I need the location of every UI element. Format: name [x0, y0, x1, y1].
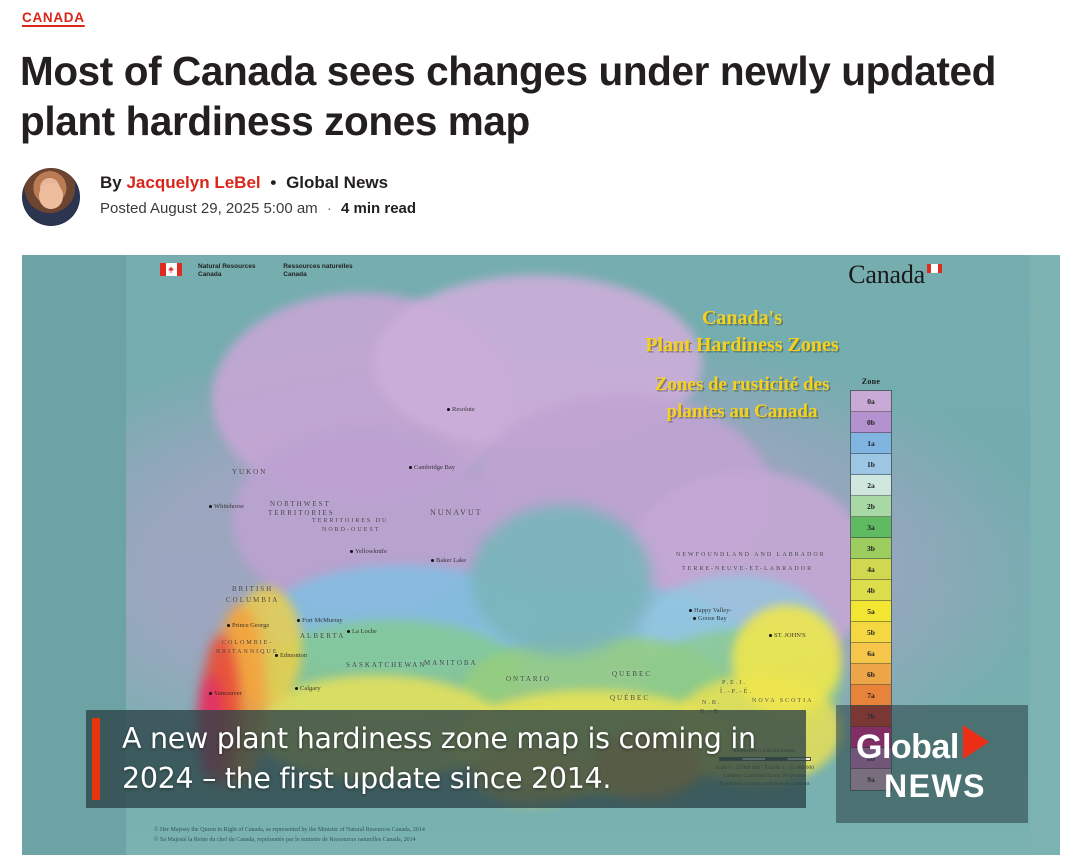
legend-swatch-7a: 7a [851, 685, 891, 706]
natural-resources-canada-signature: Natural ResourcesCanada Ressources natur… [160, 263, 353, 279]
legend-swatch-5a: 5a [851, 601, 891, 622]
byline-meta: Posted August 29, 2025 5:00 am · 4 min r… [100, 198, 416, 220]
legend-swatch-4a: 4a [851, 559, 891, 580]
map-city-dot [689, 609, 692, 612]
map-city-dot [209, 505, 212, 508]
map-city-dot [297, 619, 300, 622]
article-hero-figure: YUKONNORTHWESTTERRITORIESTERRITOIRES DUN… [22, 255, 1060, 855]
map-region-label: YUKON [232, 468, 267, 476]
map-city-dot [693, 617, 696, 620]
legend-swatch-3b: 3b [851, 538, 891, 559]
map-city-label: Calgary [300, 685, 321, 692]
map-region-label: Î.-P.-É. [720, 689, 753, 695]
map-title-en-line1: Canada's [582, 305, 902, 332]
map-city-label: Yellowknife [355, 548, 387, 555]
map-city-dot [447, 408, 450, 411]
article-page: CANADA Most of Canada sees changes under… [0, 0, 1080, 860]
map-region-label: P.E.I. [722, 680, 747, 686]
category-link-canada[interactable]: CANADA [22, 10, 85, 25]
meta-dot: · [327, 200, 332, 217]
global-news-arrow-icon [963, 725, 989, 759]
map-city-dot [769, 634, 772, 637]
caption-accent-bar [92, 718, 100, 800]
map-city-dot [347, 630, 350, 633]
map-region-label: MANITOBA [424, 659, 478, 667]
canada-wordmark: Canada [848, 260, 942, 290]
byline-primary: By Jacquelyn LeBel • Global News [100, 172, 416, 194]
legend-title: Zone [850, 377, 892, 386]
map-right-band [1030, 255, 1060, 855]
agency-name-en: Natural ResourcesCanada [198, 263, 255, 279]
byline: By Jacquelyn LeBel • Global News Posted … [22, 168, 416, 226]
canada-wordmark-flag-icon [927, 264, 942, 273]
map-region-label: NORD-OUEST [322, 527, 380, 533]
map-region-label: BRITISH [232, 585, 273, 593]
map-city-label: ST. JOHN'S [774, 632, 806, 639]
map-city-dot [209, 692, 212, 695]
agency-name-fr: Ressources naturellesCanada [283, 263, 352, 279]
map-region-label: NUNAVUT [430, 508, 483, 517]
map-city-label: Goose Bay [698, 615, 727, 622]
map-city-label: Cambridge Bay [414, 464, 455, 471]
copyright-en: © Her Majesty the Queen in Right of Cana… [154, 825, 425, 835]
canada-wordmark-text: Canada [848, 260, 925, 289]
caption-text: A new plant hardiness zone map is coming… [122, 719, 806, 799]
map-city-label: Fort McMurray [302, 617, 343, 624]
map-city-label: Edmonton [280, 652, 307, 659]
map-region-label: ONTARIO [506, 675, 551, 683]
map-city-label: Happy Valley- [694, 607, 732, 614]
map-region-label: NORTHWEST [270, 500, 331, 508]
map-region-label: ALBERTA [300, 632, 345, 640]
author-avatar [22, 168, 80, 226]
map-region-label: TERRITORIES [268, 509, 335, 517]
map-region-label: QUEBEC [612, 670, 652, 678]
global-news-sub-wordmark: NEWS [884, 769, 986, 803]
map-city-dot [431, 559, 434, 562]
map-region-label: COLOMBIE- [222, 640, 273, 646]
canadian-flag-icon [160, 263, 182, 276]
legend-swatch-6b: 6b [851, 664, 891, 685]
legend-swatch-2b: 2b [851, 496, 891, 517]
legend-swatch-5b: 5b [851, 622, 891, 643]
byline-separator: • [270, 173, 276, 192]
global-news-wordmark: Global [856, 730, 959, 764]
legend-swatch-4b: 4b [851, 580, 891, 601]
legend-swatch-1a: 1a [851, 433, 891, 454]
map-region-label: N.B. [702, 700, 721, 706]
plant-hardiness-zones-map: YUKONNORTHWESTTERRITORIESTERRITOIRES DUN… [22, 255, 1060, 855]
map-city-label: Prince George [232, 622, 269, 629]
map-title-en-line2: Plant Hardiness Zones [582, 332, 902, 359]
video-caption-overlay: A new plant hardiness zone map is coming… [86, 710, 806, 808]
map-city-dot [409, 466, 412, 469]
map-region-label: NOVA SCOTIA [752, 698, 813, 704]
map-city-dot [350, 550, 353, 553]
byline-prefix: By [100, 173, 122, 192]
map-city-dot [295, 687, 298, 690]
map-city-label: Vancouver [214, 690, 242, 697]
map-region-label: BRITANNIQUE [216, 649, 279, 655]
map-region-label: SASKATCHEWAN [346, 661, 426, 669]
legend-swatch-6a: 6a [851, 643, 891, 664]
map-city-dot [275, 654, 278, 657]
map-region-label: COLUMBIA [226, 596, 279, 604]
map-city-dot [227, 624, 230, 627]
legend-swatch-0b: 0b [851, 412, 891, 433]
legend-swatch-0a: 0a [851, 391, 891, 412]
map-region-label: TERRITOIRES DU [312, 518, 388, 524]
legend-swatch-1b: 1b [851, 454, 891, 475]
read-time: 4 min read [341, 200, 416, 217]
global-news-watermark: Global NEWS [836, 705, 1028, 823]
map-city-label: Baker Lake [436, 557, 466, 564]
map-region-label: TERRE-NEUVE-ET-LABRADOR [682, 566, 813, 572]
map-city-label: Whitehorse [214, 503, 244, 510]
page-title: Most of Canada sees changes under newly … [20, 46, 1040, 146]
legend-swatch-3a: 3a [851, 517, 891, 538]
author-link[interactable]: Jacquelyn LeBel [126, 173, 260, 192]
map-copyright: © Her Majesty the Queen in Right of Cana… [154, 825, 425, 845]
copyright-fr: © Sa Majesté la Reine du chef du Canada,… [154, 835, 425, 845]
map-region-label: NEWFOUNDLAND AND LABRADOR [676, 552, 826, 558]
map-city-label: Resolute [452, 406, 475, 413]
legend-swatch-2a: 2a [851, 475, 891, 496]
map-region-label: QUÉBEC [610, 694, 650, 702]
publication-name: Global News [286, 173, 388, 192]
posted-timestamp: Posted August 29, 2025 5:00 am [100, 200, 318, 217]
map-city-label: La Loche [352, 628, 377, 635]
